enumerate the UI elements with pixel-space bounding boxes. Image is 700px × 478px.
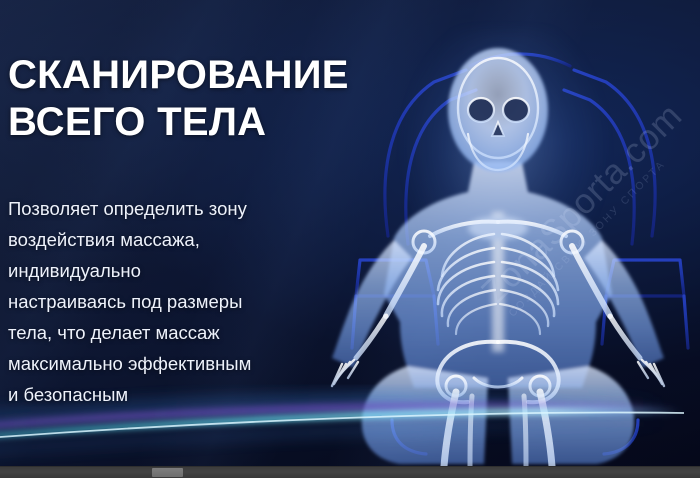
horizontal-scrollbar[interactable] xyxy=(0,466,700,478)
description-line-7: и безопасным xyxy=(8,379,318,410)
banner-description: Позволяет определить зону воздействия ма… xyxy=(8,193,318,410)
headline-line-2: ВСЕГО ТЕЛА xyxy=(8,99,388,146)
headline-line-1: СКАНИРОВАНИЕ xyxy=(8,52,388,99)
scrollbar-thumb[interactable] xyxy=(152,468,183,477)
banner-headline: СКАНИРОВАНИЕ ВСЕГО ТЕЛА xyxy=(8,52,388,146)
watermark-domain: ZonaSporta.com xyxy=(474,86,700,312)
promo-banner: СКАНИРОВАНИЕ ВСЕГО ТЕЛА Позволяет опреде… xyxy=(0,0,700,466)
banner-screen: СКАНИРОВАНИЕ ВСЕГО ТЕЛА Позволяет опреде… xyxy=(0,0,700,478)
description-line-5: тела, что делает массаж xyxy=(8,317,318,348)
watermark: ZonaSporta.com СОЗДАЙ СВОЮ ЗОНУ СПОРТА xyxy=(474,86,700,322)
description-line-4: настраиваясь под размеры xyxy=(8,286,318,317)
watermark-tagline: СОЗДАЙ СВОЮ ЗОНУ СПОРТА xyxy=(507,116,700,320)
description-line-6: максимально эффективным xyxy=(8,348,318,379)
description-line-1: Позволяет определить зону xyxy=(8,193,318,224)
xray-figure-glow xyxy=(360,30,650,450)
description-line-3: индивидуально xyxy=(8,255,318,286)
description-line-2: воздействия массажа, xyxy=(8,224,318,255)
